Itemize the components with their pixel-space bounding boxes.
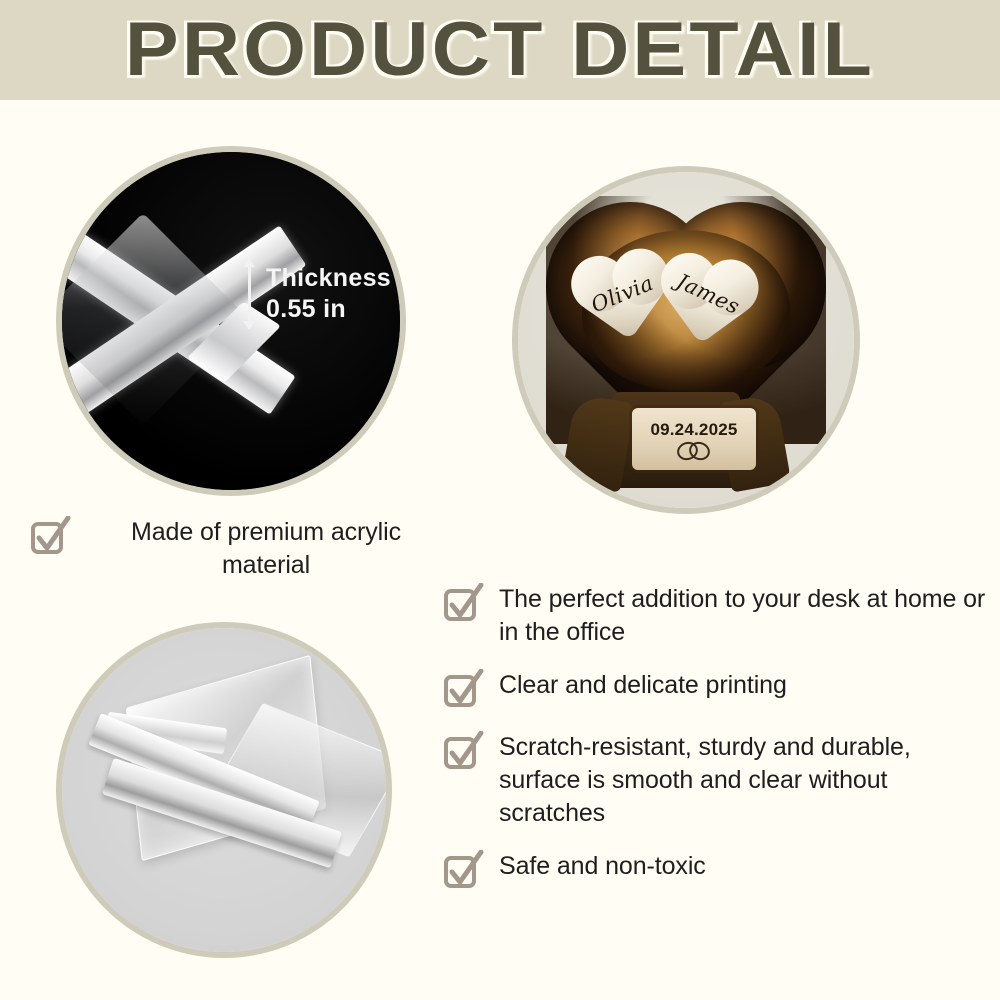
checkbox-checked-icon [30,516,72,558]
checkbox-checked-icon [443,850,485,892]
checkbox-checked-icon [443,731,485,773]
photo-stacked-acrylic-sheets [62,628,386,952]
engraved-date: 09.24.2025 [650,420,737,440]
thickness-label: Thickness [266,263,391,294]
checkbox-checked-icon [443,583,485,625]
feature-list: The perfect addition to your desk at hom… [443,583,988,892]
feature-item-desk-addition: The perfect addition to your desk at hom… [443,583,988,649]
wedding-rings-icon [677,442,711,458]
arrow-head-down-icon [243,321,255,330]
check-mark-icon [443,850,485,892]
feature-item-scratch-resistant: Scratch-resistant, sturdy and durable, s… [443,731,988,830]
feature-label: Safe and non-toxic [499,850,706,883]
check-mark-icon [443,583,485,625]
check-mark-icon [30,516,72,558]
checkbox-checked-icon [443,669,485,711]
arrow-stem [248,266,251,322]
photo-wooden-heart-keepsake: Olivia James 09.24.2025 [518,172,854,508]
feature-label: The perfect addition to your desk at hom… [499,583,988,649]
check-mark-icon [443,731,485,773]
photo-acrylic-edge-closeup: Thickness 0.55 in [62,152,400,490]
feature-item-clear-printing: Clear and delicate printing [443,669,988,711]
check-mark-icon [443,669,485,711]
thickness-annotation: Thickness 0.55 in [242,258,391,330]
date-plaque: 09.24.2025 [632,408,756,470]
feature-item-safe-non-toxic: Safe and non-toxic [443,850,988,892]
page-title: PRODUCT DETAIL [0,0,1000,100]
thickness-value: 0.55 in [266,294,391,325]
stone-heart-right: James [651,249,762,355]
thickness-label-group: Thickness 0.55 in [266,263,391,325]
feature-item-premium-acrylic: Made of premium acrylic material [30,516,460,582]
feature-label: Scratch-resistant, sturdy and durable, s… [499,731,988,830]
feature-label: Made of premium acrylic material [86,516,446,582]
dimension-arrow-icon [242,258,256,330]
feature-label: Clear and delicate printing [499,669,787,702]
product-illustration: Olivia James 09.24.2025 [536,196,836,496]
product-detail-page: PRODUCT DETAIL Thickness 0.55 in [0,0,1000,1000]
